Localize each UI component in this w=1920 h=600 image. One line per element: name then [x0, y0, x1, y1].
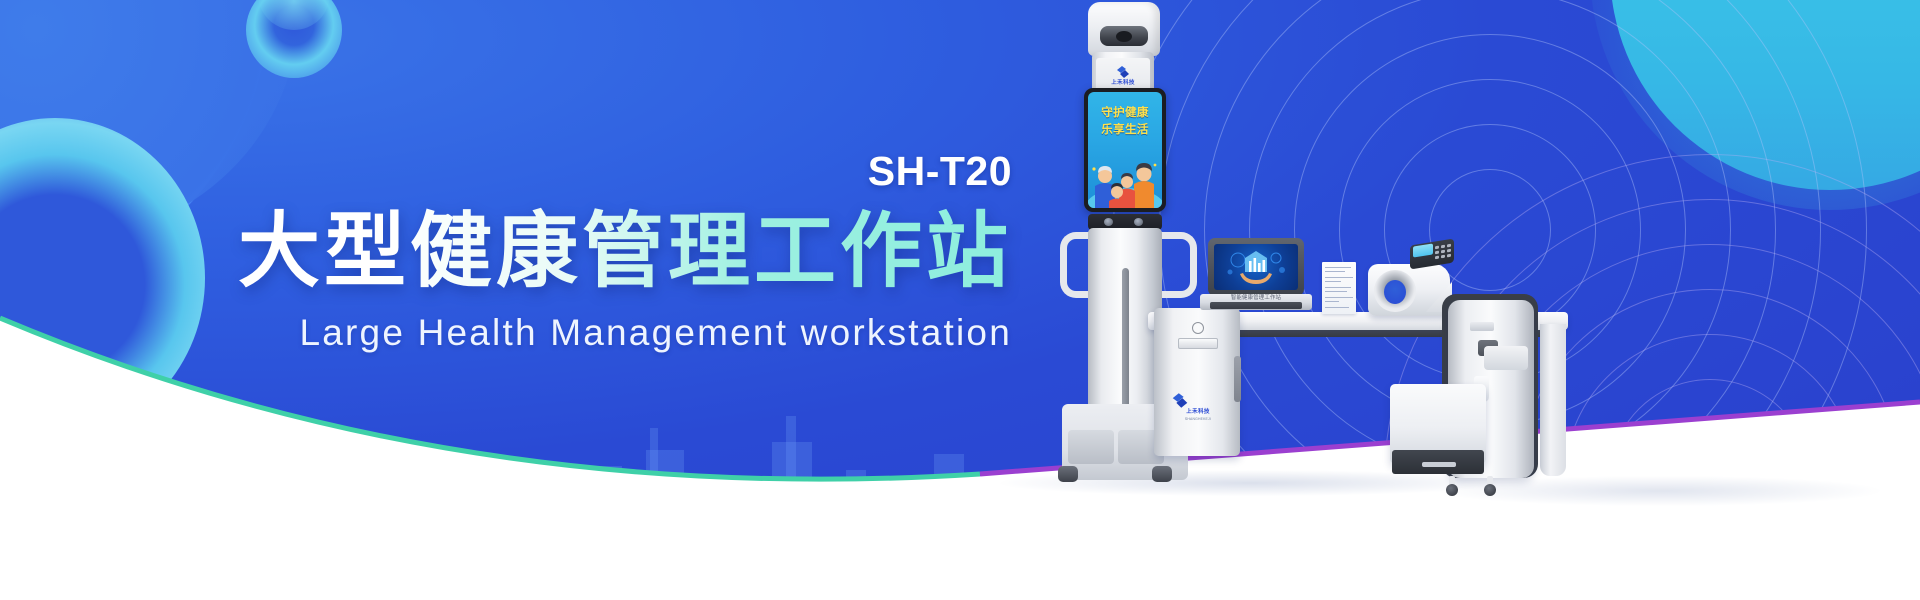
cabinet-brand: 上禾科技 SHANGHEKEJI — [1170, 392, 1226, 423]
family-illustration-icon — [1088, 152, 1162, 208]
kiosk-display-content: 守护健康 乐享生活 — [1088, 92, 1162, 208]
cart-tray[interactable] — [1484, 346, 1528, 370]
product-banner: SH-T20 大型健康管理工作站 Large Health Management… — [0, 0, 1920, 600]
cabinet-indicator-icon — [1192, 322, 1204, 334]
cabinet-card-slot[interactable] — [1178, 338, 1218, 349]
bpm-keypad[interactable] — [1435, 244, 1451, 261]
subtitle-english: Large Health Management workstation — [0, 312, 1012, 354]
desk-leg-right — [1540, 324, 1566, 476]
kiosk-slogan: 守护健康 乐享生活 — [1088, 105, 1162, 138]
kiosk-slogan-line2: 乐享生活 — [1088, 122, 1162, 139]
printer-drawer-handle[interactable] — [1422, 462, 1456, 467]
laptop-lid — [1208, 238, 1304, 296]
model-code: SH-T20 — [0, 148, 1012, 195]
camera-lens-icon — [1116, 31, 1132, 42]
cabinet-brand-cn: 上禾科技 — [1170, 409, 1226, 416]
workstation-laptop[interactable]: 智能健康管理工作站 — [1208, 238, 1304, 310]
cabinet-brand-en: SHANGHEKEJI — [1170, 416, 1226, 423]
page-title: 大型健康管理工作站 — [0, 206, 1012, 298]
kiosk-slogan-line1: 守护健康 — [1088, 105, 1162, 122]
laptop-label: 智能健康管理工作站 — [1200, 294, 1312, 302]
cabinet-door-handle[interactable] — [1234, 356, 1241, 402]
cart-wheel-right — [1482, 476, 1498, 498]
kiosk-column-slot — [1122, 268, 1129, 418]
shanghe-logo-icon — [1170, 392, 1190, 409]
kiosk-display[interactable]: 守护健康 乐享生活 — [1084, 88, 1166, 212]
health-shield-icon — [1214, 244, 1298, 290]
report-paper-icon — [1322, 262, 1356, 314]
kiosk-foot-pad-left — [1068, 430, 1114, 464]
kiosk-wheel-left — [1058, 466, 1078, 482]
kiosk-handle-right[interactable] — [1160, 232, 1197, 298]
equipment-cart — [1396, 300, 1534, 500]
laptop-keyboard[interactable] — [1210, 302, 1302, 309]
cart-wheel-left — [1444, 476, 1460, 498]
laptop-screen — [1214, 244, 1298, 290]
headline-block: SH-T20 大型健康管理工作站 Large Health Management… — [0, 0, 1040, 600]
shanghe-logo-icon — [1115, 65, 1131, 79]
kiosk-brand-cn: 上禾科技 — [1111, 80, 1135, 87]
product-illustration: 上禾科技 SHANGHEKEJI 守护健康 乐享生活 — [1020, 0, 1920, 600]
cart-slot[interactable] — [1470, 322, 1494, 331]
